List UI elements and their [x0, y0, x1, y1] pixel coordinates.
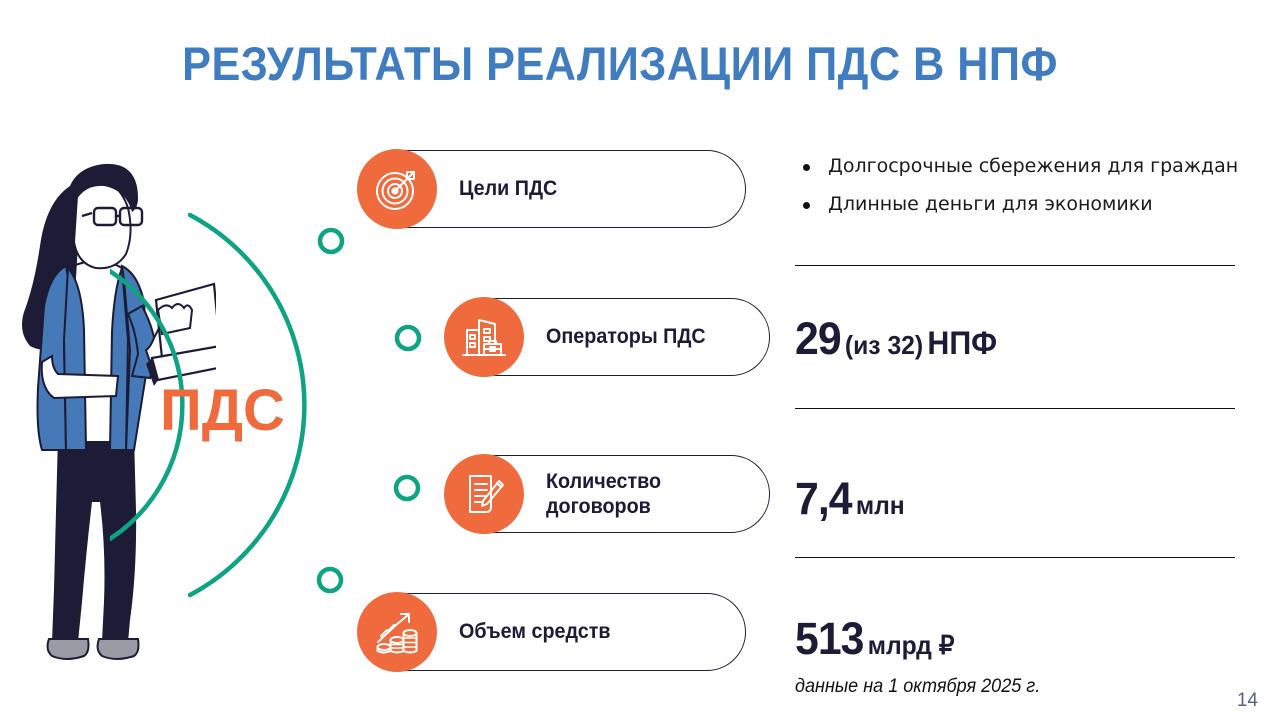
card-celi-pds[interactable]: Цели ПДС [358, 150, 746, 228]
card-kolichestvo-dogovorov[interactable]: Количество договоров [445, 455, 770, 533]
card-label: Количество договоров [546, 469, 661, 519]
target-icon [357, 149, 437, 229]
divider [795, 265, 1235, 266]
stat-value: 29 [795, 313, 841, 364]
stat-qualifier: (из 32) [845, 330, 923, 360]
stat-contracts-count: 7,4 млн [795, 473, 905, 525]
stat-value: 513 [795, 613, 863, 664]
stat-unit: млн [856, 490, 905, 520]
document-pen-icon [444, 454, 524, 534]
bullet-list: Долгосрочные сбережения для граждан Длин… [795, 155, 1237, 231]
building-briefcase-icon [444, 297, 524, 377]
pds-center-label: ПДС [160, 382, 310, 440]
stat-npf-count: 29 (из 32) НПФ [795, 313, 997, 365]
page-number: 14 [1237, 690, 1258, 712]
bullet-item: Длинные деньги для экономики [795, 193, 1237, 217]
growth-coins-icon [357, 592, 437, 672]
page-title: РЕЗУЛЬТАТЫ РЕАЛИЗАЦИИ ПДС В НПФ [50, 36, 1191, 91]
stat-unit: НПФ [927, 325, 997, 361]
divider [795, 408, 1235, 409]
card-obyem-sredstv[interactable]: Объем средств [358, 593, 746, 671]
stat-funds-volume: 513 млрд ₽ [795, 613, 954, 665]
bullet-item: Долгосрочные сбережения для граждан [795, 155, 1237, 179]
card-label: Цели ПДС [459, 176, 557, 201]
divider [795, 557, 1235, 558]
slide: РЕЗУЛЬТАТЫ РЕАЛИЗАЦИИ ПДС В НПФ [0, 0, 1280, 720]
stat-value: 7,4 [795, 473, 852, 524]
card-label: Объем средств [459, 619, 611, 644]
data-as-of-footnote: данные на 1 октября 2025 г. [795, 676, 1040, 698]
stat-unit: млрд ₽ [868, 630, 955, 660]
card-operatory-pds[interactable]: Операторы ПДС [445, 298, 770, 376]
card-label: Операторы ПДС [546, 324, 706, 349]
